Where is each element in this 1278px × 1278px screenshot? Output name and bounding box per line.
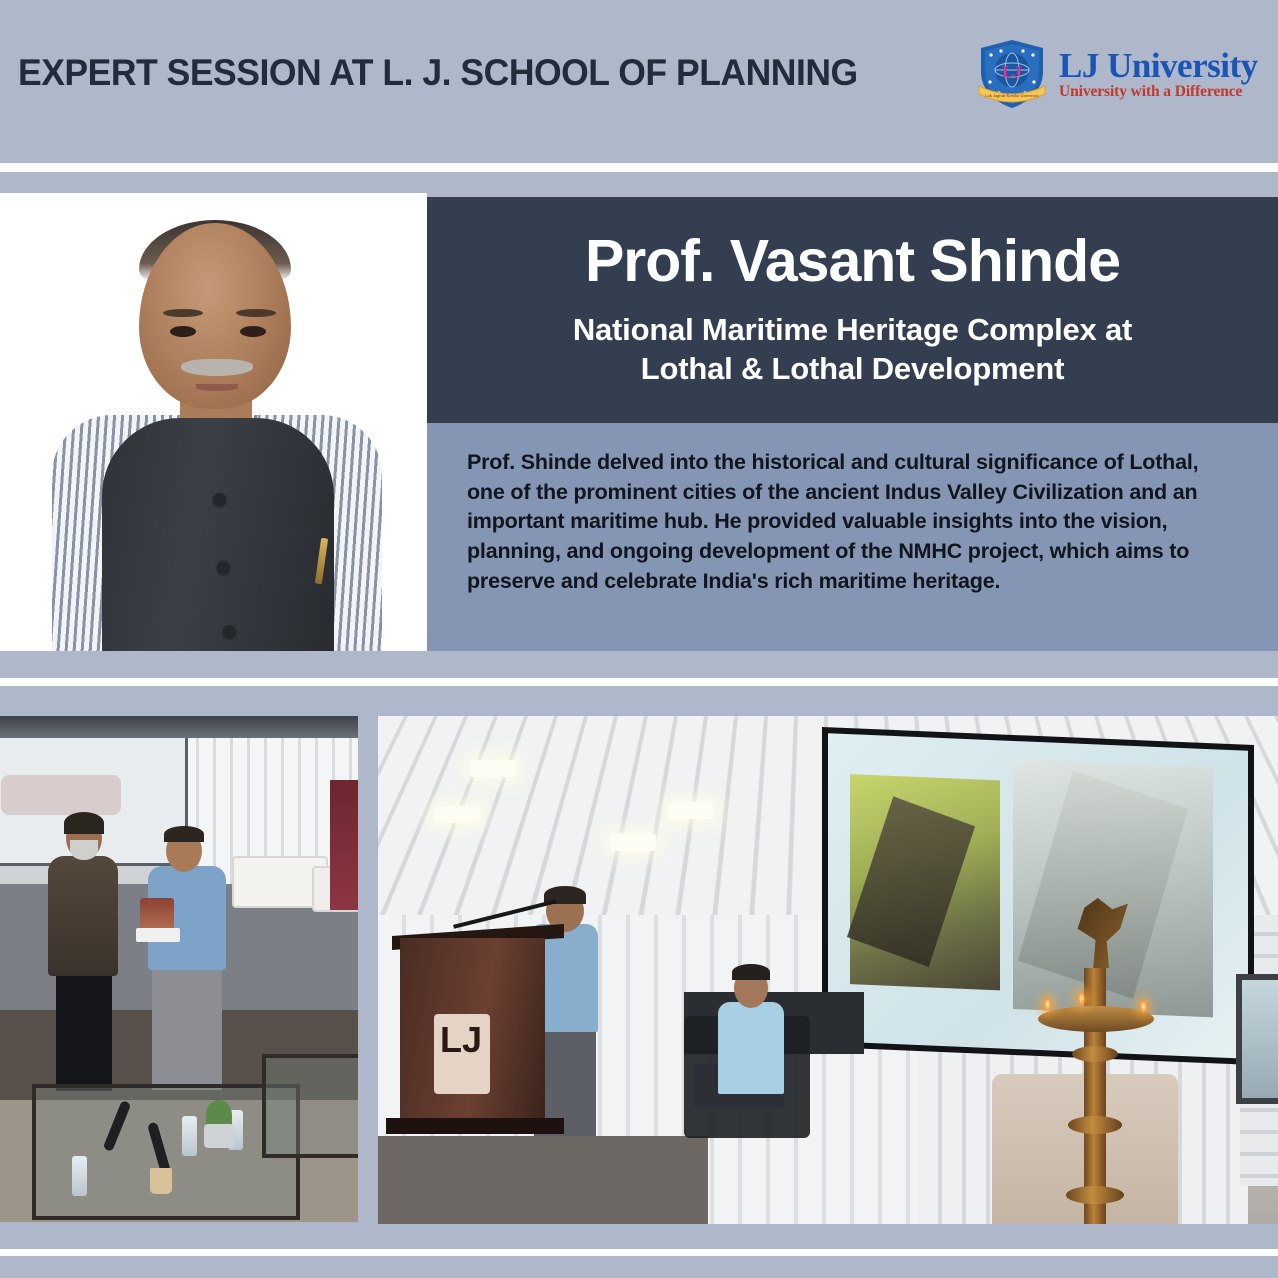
lamp-flame [1140,1000,1147,1013]
lamp-disc [1072,1046,1118,1062]
portrait-eye [170,326,196,337]
ceiling-beam [0,716,358,738]
portrait-moustache [181,359,253,376]
header-band: EXPERT SESSION AT L. J. SCHOOL OF PLANNI… [0,0,1278,163]
divider-gap-middle [0,678,1278,686]
glass-side-table [262,1054,358,1158]
portrait-brow [163,309,203,317]
lamp-disc [1066,1186,1124,1204]
host-hair [64,812,104,834]
talk-title-line-1: National Maritime Heritage Complex at [573,311,1132,350]
glass-table [32,1084,300,1220]
logo-wordmark: LJ University University with a Differen… [1059,48,1258,100]
paper-cup [150,1168,172,1194]
host-legs [56,971,112,1091]
speaker-title-block: Prof. Vasant Shinde National Maritime He… [427,197,1278,423]
host-vest [48,856,118,976]
projector-screen [828,733,1248,1059]
ceiling-light [470,760,516,777]
guest-hair [164,826,204,842]
attendee-hair [732,964,770,980]
attendee-shirt [718,1002,784,1094]
description-panel: Prof. Shinde delved into the historical … [427,423,1278,651]
portrait-button [217,561,230,574]
lamp-flame [1078,992,1085,1005]
poster-canvas: EXPERT SESSION AT L. J. SCHOOL OF PLANNI… [0,0,1278,1278]
divider-gap-top [0,163,1278,172]
screen-content [1,775,121,815]
ceiling-light [434,806,480,823]
window-pane [1242,980,1278,1098]
ceiling-light [668,802,714,819]
portrait-eye [240,326,266,337]
photo-gallery: LJ [0,716,1278,1224]
podium-emblem-text: LJ [440,1022,484,1084]
portrait-brow [236,309,276,317]
podium-base [386,1118,564,1134]
plant-pot [204,1124,234,1148]
lj-university-logo: LJ Lok Jagruti Kendra University LJ Univ… [975,33,1260,115]
ceiling-light [610,834,656,851]
standee-banner [330,780,358,910]
talk-title: National Maritime Heritage Complex at Lo… [573,311,1132,389]
session-description: Prof. Shinde delved into the historical … [467,448,1237,596]
logo-tagline: University with a Difference [1059,84,1258,100]
portrait-mouth [196,384,238,391]
memento-presentation-photo [0,716,358,1222]
portrait-vest [102,418,334,651]
portrait-button [213,493,226,506]
speaker-portrait-photo [0,193,427,651]
lamp-flame [1044,998,1051,1011]
stage-platform [378,1136,708,1224]
talk-title-line-2: Lothal & Lothal Development [573,350,1132,389]
hero-section: Prof. Vasant Shinde National Maritime He… [0,193,1278,651]
lamp-disc [1068,1116,1122,1134]
portrait-button [223,625,236,638]
water-bottle [72,1156,87,1196]
divider-gap-bottom [0,1249,1278,1256]
memento-base [136,928,180,942]
water-bottle [182,1116,197,1156]
logo-name: LJ University [1059,48,1258,83]
speaker-name: Prof. Vasant Shinde [585,231,1120,293]
lamp-oil-plate [1038,1006,1154,1032]
university-crest-icon: LJ Lok Jagruti Kendra University [975,36,1049,112]
host-beard [70,840,98,860]
page-title: EXPERT SESSION AT L. J. SCHOOL OF PLANNI… [18,52,858,94]
lecture-hall-photo: LJ [378,716,1278,1224]
guest-trousers [152,966,222,1090]
svg-text:LJ: LJ [1002,62,1022,81]
svg-text:Lok Jagruti Kendra University: Lok Jagruti Kendra University [985,93,1040,98]
